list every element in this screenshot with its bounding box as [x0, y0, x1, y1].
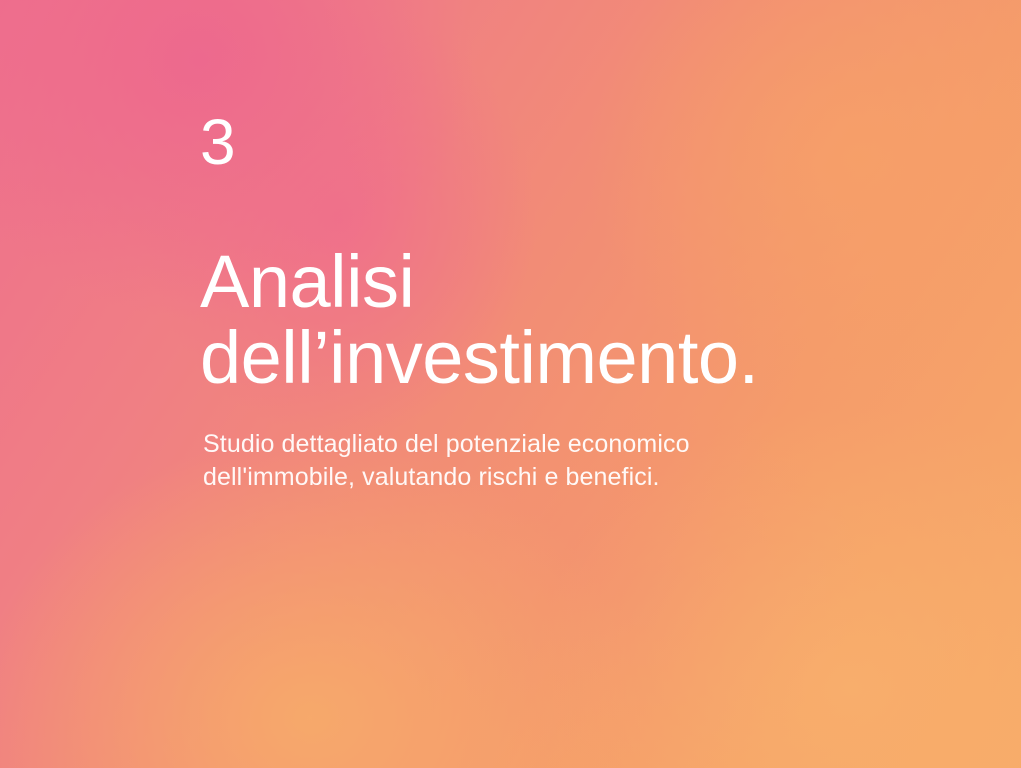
section-number: 3	[200, 110, 236, 174]
page-title: Analisi dell’investimento.	[200, 244, 759, 396]
slide-content: 3 Analisi dell’investimento. Studio dett…	[200, 0, 960, 768]
section-subtitle: Studio dettagliato del potenziale econom…	[203, 428, 690, 493]
slide-section-divider: 3 Analisi dell’investimento. Studio dett…	[0, 0, 1021, 768]
